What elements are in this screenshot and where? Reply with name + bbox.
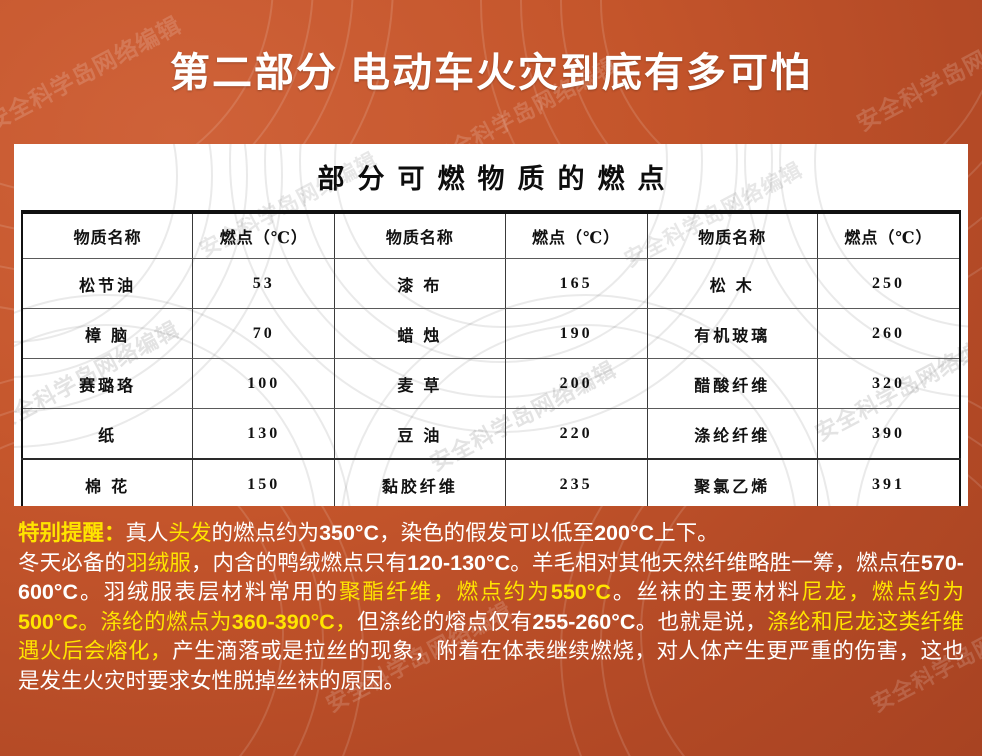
note-segment: ，染色的假发可以低至 [379, 521, 594, 545]
note-segment: 360-390°C [232, 610, 335, 634]
ignition-point-cell: 190 [505, 309, 647, 359]
material-name-cell: 蜡 烛 [335, 309, 505, 359]
ignition-point-cell: 200 [505, 359, 647, 409]
note-segment: 350°C [319, 521, 379, 545]
ignition-point-cell: 390 [817, 409, 960, 460]
material-name-cell: 棉 花 [22, 459, 193, 506]
note-segment: 头发 [169, 521, 212, 545]
note-segment: 200°C [594, 521, 654, 545]
note-segment: 500°C [18, 610, 78, 634]
ignition-point-cell: 100 [193, 359, 335, 409]
table-caption: 部分可燃物质的燃点 [14, 144, 968, 196]
material-name-cell: 黏胶纤维 [335, 459, 505, 506]
note-segment: 冬天必备的 [18, 551, 126, 575]
table-row: 樟 脑70蜡 烛190有机玻璃260 [22, 309, 960, 359]
material-name-cell: 豆 油 [335, 409, 505, 460]
table-row: 赛璐珞100麦 草200醋酸纤维320 [22, 359, 960, 409]
table-header-cell: 燃点（℃） [505, 212, 647, 259]
material-name-cell: 樟 脑 [22, 309, 193, 359]
note-body: 真人头发的燃点约为350°C，染色的假发可以低至200°C上下。冬天必备的羽绒服… [18, 521, 964, 693]
ignition-point-cell: 53 [193, 259, 335, 309]
note-segment: 上下。 [654, 521, 719, 545]
ignition-point-cell: 70 [193, 309, 335, 359]
note-segment: 。也就是说， [635, 610, 767, 634]
note-segment: 但涤纶的熔点仅有 [357, 610, 532, 634]
note-segment: 550°C [551, 580, 611, 604]
note-segment: 。羽绒服表层材料常用的 [78, 580, 339, 604]
ignition-point-cell: 250 [817, 259, 960, 309]
note-segment: 聚酯纤维，燃点约为 [339, 580, 551, 604]
note-segment: 120-130°C [407, 551, 510, 575]
flammable-materials-table: 物质名称燃点（℃）物质名称燃点（℃）物质名称燃点（℃）松节油53漆 布165松 … [21, 210, 961, 506]
material-name-cell: 有机玻璃 [647, 309, 817, 359]
slide-canvas: 安全科学岛网络编辑 安全科学岛网络编辑 安全科学岛网络编辑 安全科学岛网络编辑 … [0, 0, 982, 756]
note-segment: 涤纶的燃点为 [100, 610, 231, 634]
note-segment: 尼龙，燃点约为 [801, 580, 964, 604]
material-name-cell: 松 木 [647, 259, 817, 309]
material-name-cell: 涤纶纤维 [647, 409, 817, 460]
slide-title-bar: 第二部分 电动车火灾到底有多可怕 [0, 0, 982, 138]
ignition-point-cell: 150 [193, 459, 335, 506]
note-segment: 真人 [126, 521, 169, 545]
note-segment: 。 [78, 610, 100, 634]
table-row: 松节油53漆 布165松 木250 [22, 259, 960, 309]
ignition-point-cell: 235 [505, 459, 647, 506]
note-segment: 的燃点约为 [212, 521, 320, 545]
ignition-point-cell: 130 [193, 409, 335, 460]
ignition-point-cell: 260 [817, 309, 960, 359]
table-panel: 安全科学岛网络编辑 安全科学岛网络编辑 安全科学岛网络编辑 安全科学岛网络编辑 … [14, 144, 968, 506]
table-row: 棉 花150黏胶纤维235聚氯乙烯391 [22, 459, 960, 506]
note-lead-label: 特别提醒： [18, 521, 126, 545]
material-name-cell: 赛璐珞 [22, 359, 193, 409]
note-segment: ， [335, 610, 357, 634]
material-name-cell: 纸 [22, 409, 193, 460]
ignition-point-cell: 165 [505, 259, 647, 309]
table-header-cell: 燃点（℃） [817, 212, 960, 259]
material-name-cell: 麦 草 [335, 359, 505, 409]
material-name-cell: 漆 布 [335, 259, 505, 309]
table-header-cell: 物质名称 [22, 212, 193, 259]
ignition-point-cell: 220 [505, 409, 647, 460]
table-header-row: 物质名称燃点（℃）物质名称燃点（℃）物质名称燃点（℃） [22, 212, 960, 259]
ignition-point-cell: 391 [817, 459, 960, 506]
table-header-cell: 燃点（℃） [193, 212, 335, 259]
note-segment: 。羊毛相对其他天然纤维略胜一筹，燃点在 [510, 551, 921, 575]
note-segment: 。丝袜的主要材料 [611, 580, 801, 604]
special-reminder-note: 特别提醒：真人头发的燃点约为350°C，染色的假发可以低至200°C上下。冬天必… [18, 519, 964, 696]
material-name-cell: 松节油 [22, 259, 193, 309]
note-segment: 羽绒服 [126, 551, 191, 575]
table-header-cell: 物质名称 [647, 212, 817, 259]
table-header-cell: 物质名称 [335, 212, 505, 259]
table-row: 纸130豆 油220涤纶纤维390 [22, 409, 960, 460]
ignition-point-cell: 320 [817, 359, 960, 409]
material-name-cell: 聚氯乙烯 [647, 459, 817, 506]
note-segment: ，内含的鸭绒燃点只有 [191, 551, 407, 575]
material-name-cell: 醋酸纤维 [647, 359, 817, 409]
note-segment: 255-260°C [532, 610, 635, 634]
page-title: 第二部分 电动车火灾到底有多可怕 [170, 40, 812, 98]
